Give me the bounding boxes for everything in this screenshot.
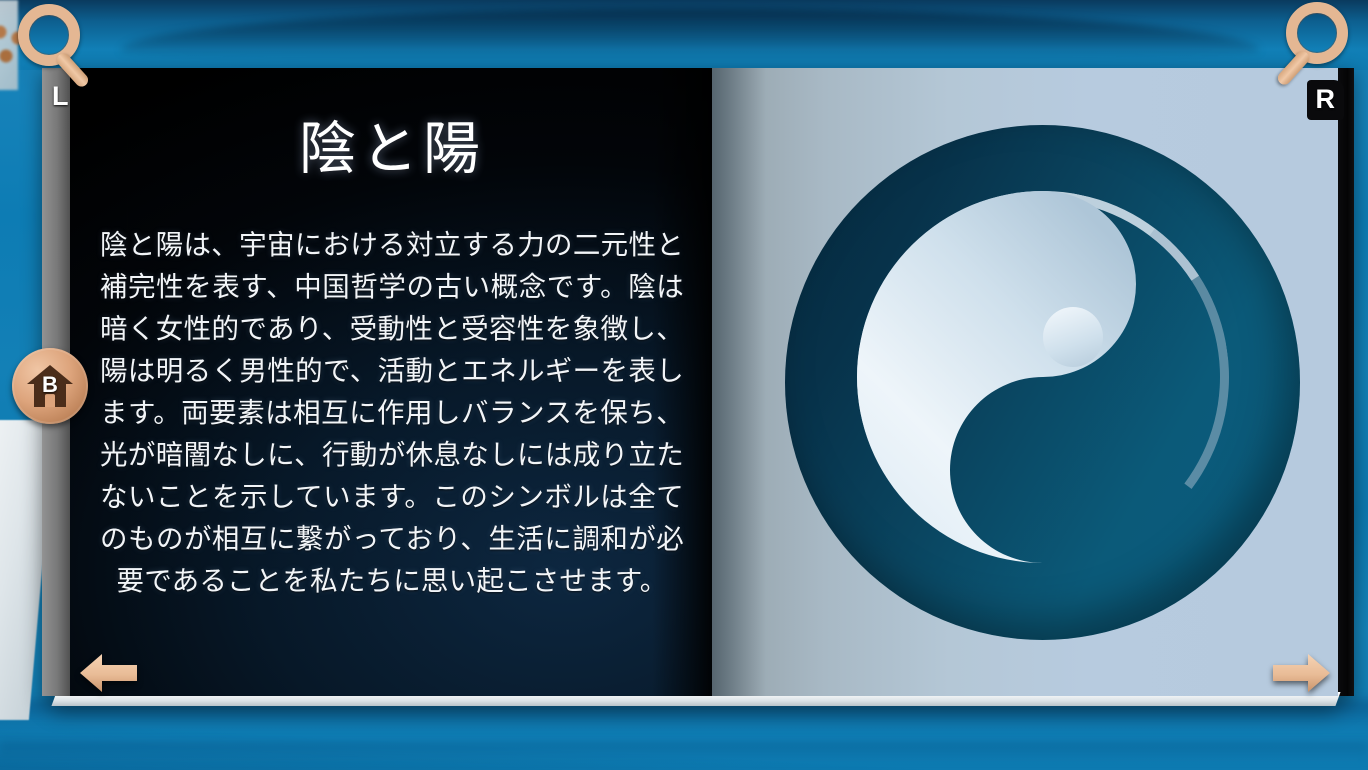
article: 陰と陽 陰と陽は、宇宙における対立する力の二元性と補完性を表す、中国哲学の古い概… bbox=[98, 120, 686, 602]
zoom-in-key-label: R bbox=[1307, 80, 1345, 120]
arrow-right-icon bbox=[1270, 650, 1332, 696]
yin-yang-dot bbox=[1043, 307, 1103, 367]
zoom-out-button[interactable] bbox=[18, 4, 102, 88]
background-wave-bottom bbox=[0, 742, 1368, 762]
page-title: 陰と陽 bbox=[98, 120, 686, 180]
yin-yang-icon bbox=[785, 125, 1300, 640]
house-icon: B bbox=[27, 365, 73, 407]
next-page-button[interactable] bbox=[1270, 650, 1332, 696]
book-cover-edge bbox=[1338, 68, 1354, 696]
article-body-text: 陰と陽は、宇宙における対立する力の二元性と補完性を表す、中国哲学の古い概念です。… bbox=[98, 224, 686, 602]
magnifier-icon bbox=[18, 4, 80, 66]
home-button[interactable]: B bbox=[12, 348, 88, 424]
illustration-container bbox=[762, 68, 1322, 696]
book-gutter-shadow-right bbox=[712, 68, 766, 696]
yin-yang-swirl-icon bbox=[857, 191, 1229, 563]
open-book: 陰と陽 陰と陽は、宇宙における対立する力の二元性と補完性を表す、中国哲学の古い概… bbox=[16, 68, 1354, 696]
magnifier-handle-icon bbox=[1275, 49, 1311, 87]
game-scene: 陰と陽 陰と陽は、宇宙における対立する力の二元性と補完性を表す、中国哲学の古い概… bbox=[0, 0, 1368, 770]
arrow-left-icon bbox=[78, 650, 140, 696]
home-key-label: B bbox=[27, 374, 73, 396]
previous-page-button[interactable] bbox=[78, 650, 140, 696]
book-left-page: 陰と陽 陰と陽は、宇宙における対立する力の二元性と補完性を表す、中国哲学の古い概… bbox=[42, 68, 712, 696]
yin-yang-light-half bbox=[857, 191, 1229, 563]
book-right-page bbox=[712, 68, 1338, 696]
zoom-in-button[interactable] bbox=[1264, 2, 1348, 86]
zoom-out-key-label: L bbox=[52, 83, 69, 110]
